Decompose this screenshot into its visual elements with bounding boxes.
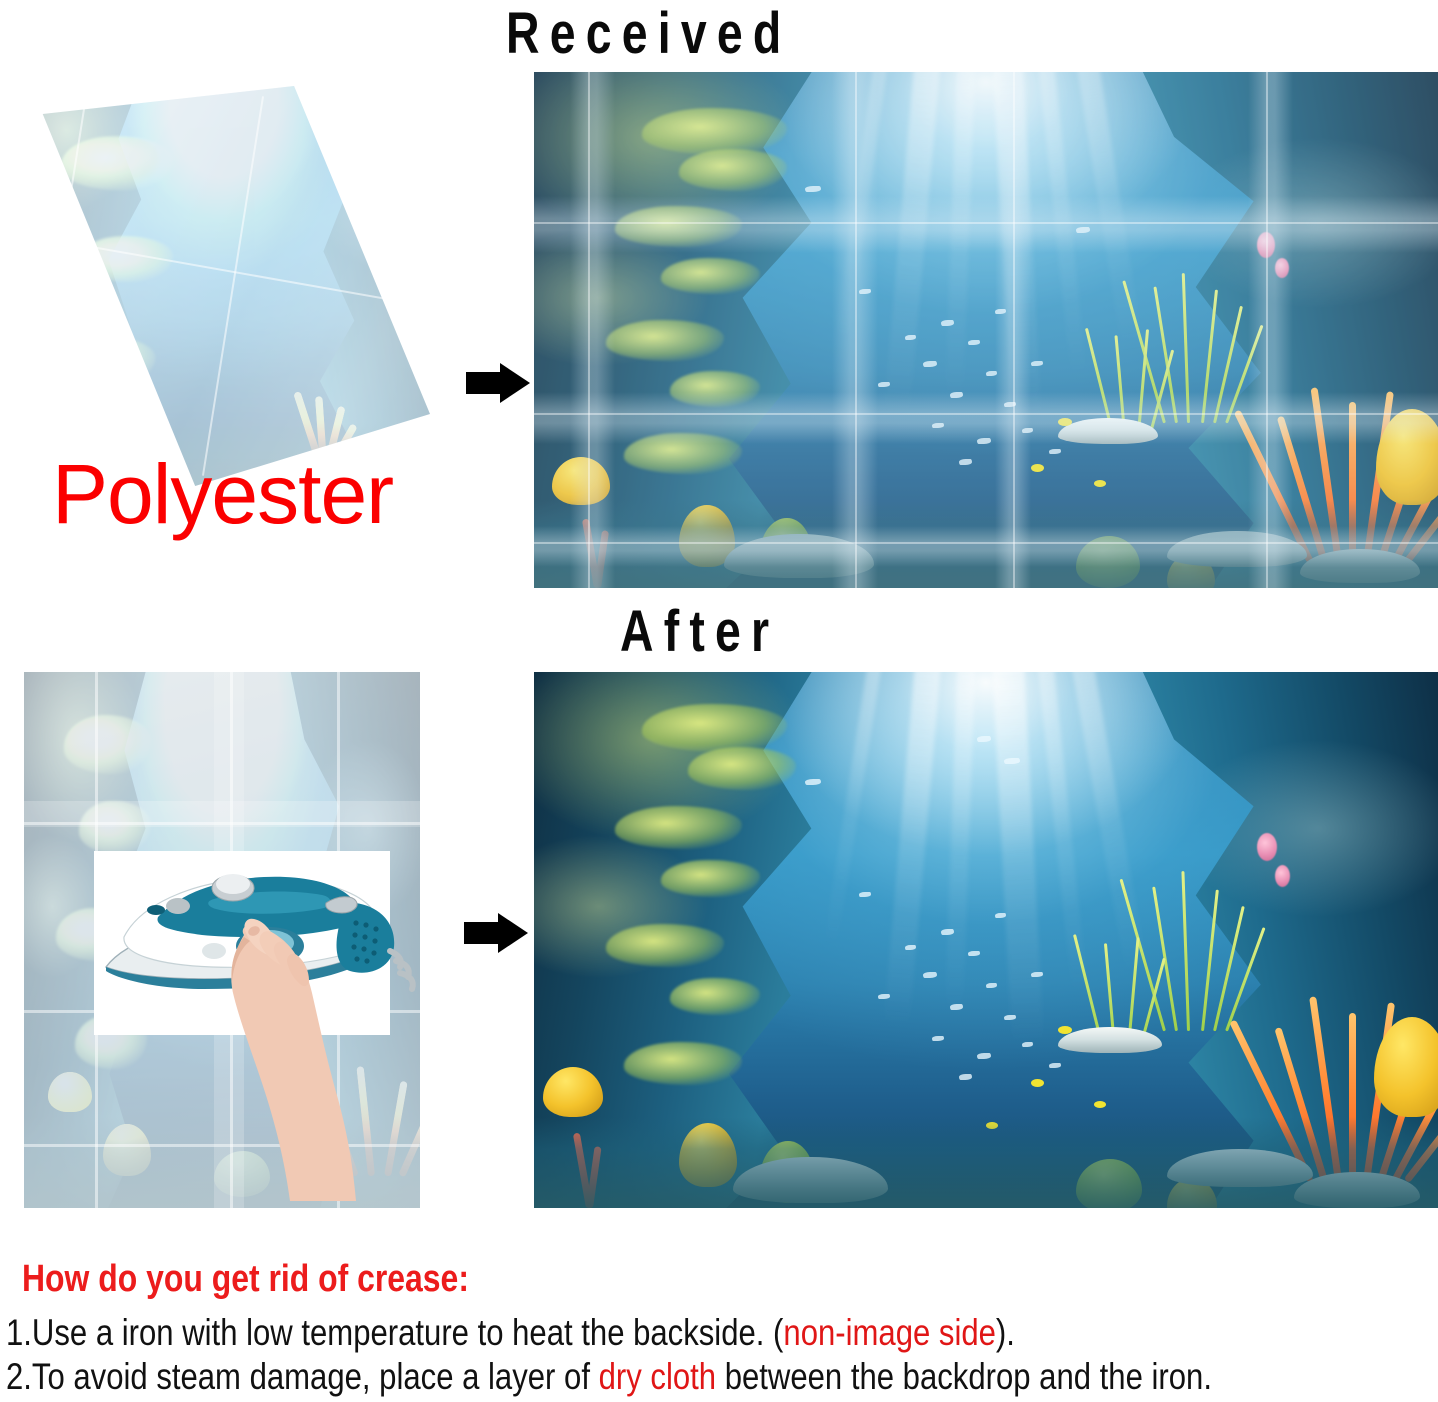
page-title-after: After	[620, 598, 779, 665]
iron-and-hand-illustration	[94, 851, 424, 1201]
right-arrow-icon	[466, 363, 530, 403]
page-title-received: Received	[506, 0, 791, 67]
after-backdrop-photo	[534, 672, 1438, 1208]
instruction-line-2: 2.To avoid steam damage, place a layer o…	[6, 1356, 1212, 1398]
instruction-2-highlight: dry cloth	[599, 1356, 716, 1397]
instruction-1-prefix: 1.Use a iron with low temperature to hea…	[6, 1312, 783, 1353]
folded-sheet-ghost-print	[18, 86, 430, 486]
instruction-1-highlight: non-image side	[783, 1312, 996, 1353]
iron-svg	[94, 851, 424, 1201]
instructions-title: How do you get rid of crease:	[22, 1258, 469, 1301]
instruction-2-suffix: between the backdrop and the iron.	[716, 1356, 1212, 1397]
right-arrow-icon	[464, 913, 528, 953]
instruction-1-suffix: ).	[996, 1312, 1015, 1353]
reef-scene-after	[534, 672, 1438, 1208]
instruction-line-1: 1.Use a iron with low temperature to hea…	[6, 1312, 1015, 1354]
material-label: Polyester	[52, 452, 393, 536]
reef-scene-received	[534, 72, 1438, 588]
folded-backdrop-photo	[18, 86, 430, 486]
instruction-2-prefix: 2.To avoid steam damage, place a layer o…	[6, 1356, 599, 1397]
received-backdrop-photo	[534, 72, 1438, 588]
